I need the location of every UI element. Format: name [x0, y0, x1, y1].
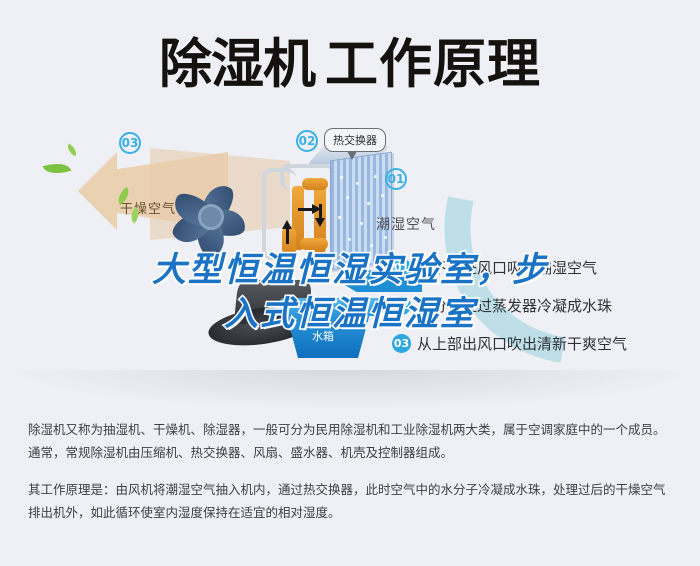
- step-item: 03 从上部出风口吹出清新干爽空气: [392, 324, 692, 362]
- leaf-icon: [65, 144, 79, 157]
- paragraph-2: 其工作原理是：由风机将潮湿空气抽入机内，通过热交换器，此时空气中的水分子冷凝成水…: [28, 478, 676, 524]
- step-item: 01 从下部进风口吸入潮湿空气: [392, 248, 692, 286]
- step-text: 水分子经过蒸发器冷凝成水珠: [417, 295, 612, 316]
- step-text: 从上部出风口吹出清新干爽空气: [417, 333, 627, 354]
- paragraph-1-line-1: 除湿机又称为抽湿机、干燥机、除湿器，一般可分为民用除湿机和工业除湿机两大类，属于…: [28, 418, 676, 441]
- illustration-fade-shadow: [0, 370, 700, 410]
- body-copy: 除湿机又称为抽湿机、干燥机、除湿器，一般可分为民用除湿机和工业除湿机两大类，属于…: [28, 418, 676, 538]
- illustration-stage: 干燥空气: [0, 120, 700, 405]
- title-text: 除湿机工作原理: [159, 22, 541, 98]
- fan-icon: [162, 168, 258, 260]
- badge-02: 02: [296, 130, 318, 152]
- paragraph-2-line-2: 排出机外，如此循环使室内湿度保持在适宜的相对湿度。: [28, 501, 676, 524]
- badge-01: 01: [385, 168, 407, 190]
- step-text: 从下部进风口吸入潮湿空气: [417, 257, 597, 278]
- title-part-2: 工作原理: [325, 34, 541, 95]
- step-badge: 01: [392, 258, 411, 277]
- paragraph-2-line-1: 其工作原理是：由风机将潮湿空气抽入机内，通过热交换器，此时空气中的水分子冷凝成水…: [28, 478, 676, 501]
- step-badge: 02: [392, 296, 411, 315]
- water-tank-icon: 水箱: [278, 298, 388, 360]
- heat-exchanger-callout: 热交换器: [324, 128, 386, 152]
- leaf-icon: [43, 158, 72, 178]
- page-title: 除湿机工作原理: [0, 0, 700, 120]
- compressor-coil-icon: [262, 164, 340, 264]
- steps-list: 01 从下部进风口吸入潮湿空气 02 水分子经过蒸发器冷凝成水珠 03 从上部出…: [392, 248, 692, 362]
- water-tank-label: 水箱: [312, 328, 334, 344]
- badge-03: 03: [119, 132, 141, 154]
- paragraph-1: 除湿机又称为抽湿机、干燥机、除湿器，一般可分为民用除湿机和工业除湿机两大类，属于…: [28, 418, 676, 464]
- title-part-1: 除湿机: [159, 34, 315, 95]
- paragraph-1-line-2: 通常，常规除湿机由压缩机、热交换器、风扇、盛水器、机壳及控制器组成。: [28, 441, 676, 464]
- humid-air-label: 潮湿空气: [376, 214, 436, 234]
- page-root: 除湿机工作原理 干燥空气: [0, 0, 700, 566]
- step-item: 02 水分子经过蒸发器冷凝成水珠: [392, 286, 692, 324]
- step-badge: 03: [392, 334, 411, 353]
